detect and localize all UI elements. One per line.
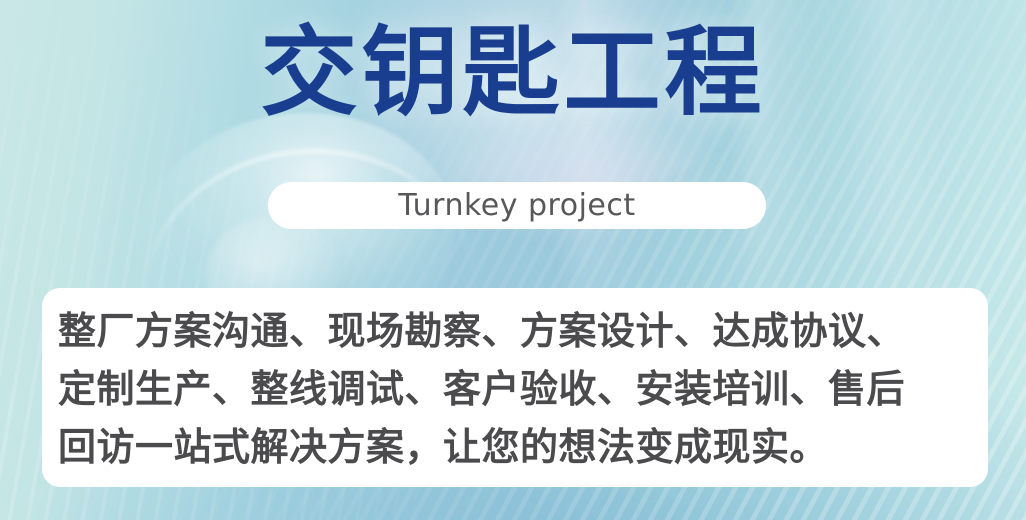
turnkey-project-banner: 交钥匙工程 Turnkey project 整厂方案沟通、现场勘察、方案设计、达… <box>0 0 1026 520</box>
page-title: 交钥匙工程 <box>0 19 1026 128</box>
subtitle-text: Turnkey project <box>398 191 635 221</box>
description-line-3: 回访一站式解决方案，让您的想法变成现实。 <box>58 418 972 476</box>
description-line-2: 定制生产、整线调试、客户验收、安装培训、售后 <box>58 360 972 418</box>
description-text: 整厂方案沟通、现场勘察、方案设计、达成协议、 定制生产、整线调试、客户验收、安装… <box>58 302 972 476</box>
subtitle-pill: Turnkey project <box>268 182 766 229</box>
description-line-1: 整厂方案沟通、现场勘察、方案设计、达成协议、 <box>58 302 972 360</box>
description-card: 整厂方案沟通、现场勘察、方案设计、达成协议、 定制生产、整线调试、客户验收、安装… <box>42 288 988 487</box>
